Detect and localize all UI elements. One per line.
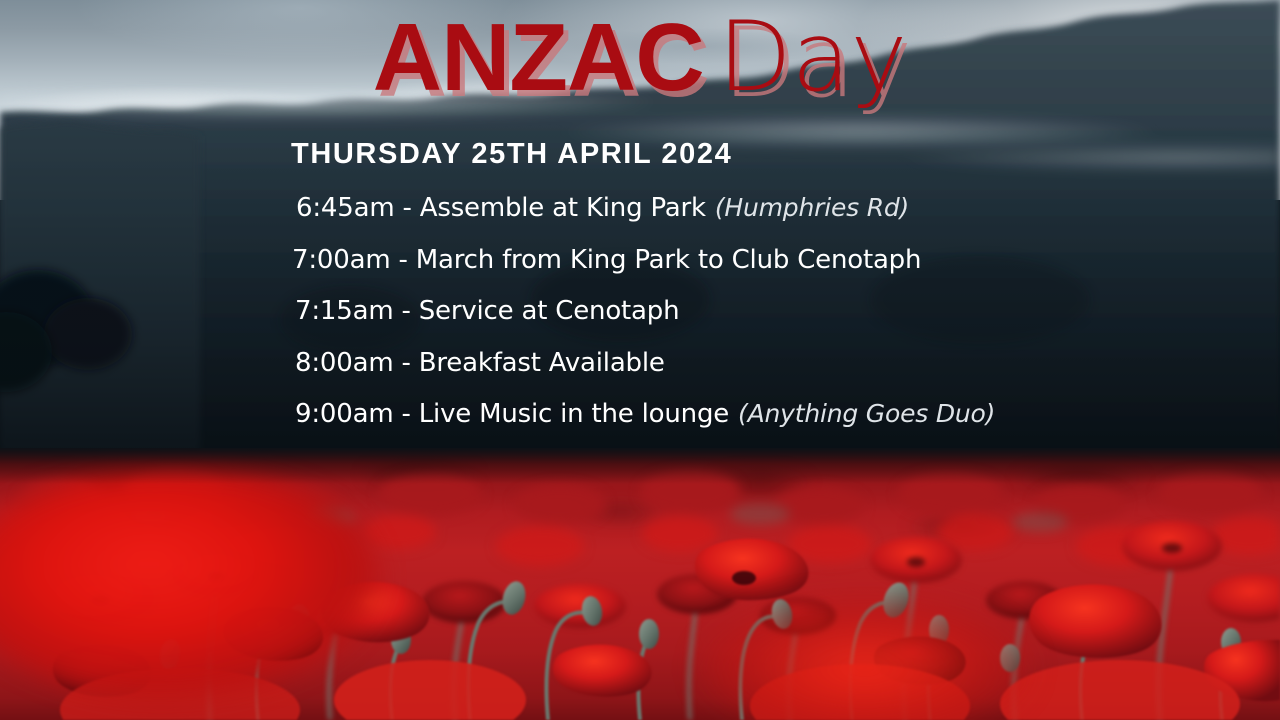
schedule-text: 9:00am - Live Music in the lounge bbox=[295, 399, 729, 429]
list-item: 7:00am - March from King Park to Club Ce… bbox=[292, 242, 1212, 294]
schedule-text: 8:00am - Breakfast Available bbox=[295, 348, 665, 378]
list-item: 9:00am - Live Music in the lounge(Anythi… bbox=[292, 396, 1212, 448]
schedule-note: (Humphries Rd) bbox=[715, 193, 909, 222]
schedule-text: 7:00am - March from King Park to Club Ce… bbox=[292, 245, 921, 275]
title-day: Day bbox=[718, 1, 908, 113]
event-date-subtitle: THURSDAY 25TH APRIL 2024 bbox=[291, 138, 732, 171]
anzac-day-poster: ANZACDay THURSDAY 25TH APRIL 2024 6:45am… bbox=[0, 0, 1280, 720]
schedule-text: 6:45am - Assemble at King Park bbox=[296, 193, 706, 223]
list-item: 8:00am - Breakfast Available bbox=[292, 345, 1212, 397]
schedule-list: 6:45am - Assemble at King Park(Humphries… bbox=[292, 190, 1212, 448]
title-anzac: ANZAC bbox=[373, 4, 704, 111]
schedule-text: 7:15am - Service at Cenotaph bbox=[295, 296, 679, 326]
schedule-note: (Anything Goes Duo) bbox=[738, 399, 995, 428]
list-item: 7:15am - Service at Cenotaph bbox=[292, 293, 1212, 345]
list-item: 6:45am - Assemble at King Park(Humphries… bbox=[292, 190, 1212, 242]
page-title: ANZACDay bbox=[0, 9, 1280, 106]
poster-content: ANZACDay THURSDAY 25TH APRIL 2024 6:45am… bbox=[0, 0, 1280, 720]
